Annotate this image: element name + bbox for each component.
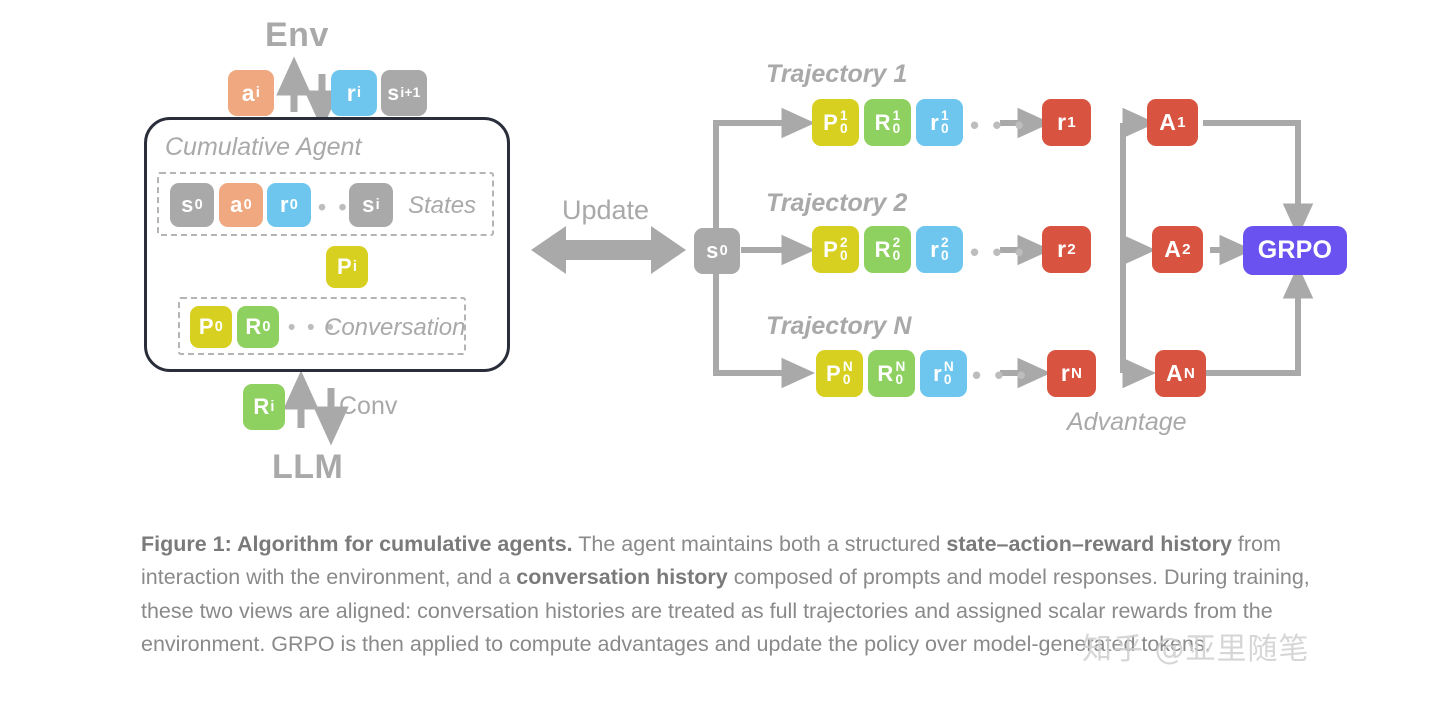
traj2-total-reward: r2 [1042,226,1091,273]
reward-to-advantage-arrows [1123,123,1141,373]
env-node-next-state: si+1 [381,70,427,116]
conversation-node-p0: P0 [190,306,232,348]
advantage-label: Advantage [1067,408,1187,437]
env-label: Env [265,16,329,55]
llm-label: LLM [272,448,343,487]
update-arrow [531,226,686,274]
env-node-reward: ri [331,70,377,116]
cumulative-agent-label: Cumulative Agent [165,133,361,162]
figure-diagram: Env ai ri si+1 Cumulative Agent s0 a0 r0… [0,0,1440,707]
root-state-node-s0: s0 [694,228,740,274]
traj1-node-prompt: P10 [812,99,859,146]
llm-exchange-arrows [301,388,331,428]
state-node-a0: a0 [219,183,263,227]
states-label: States [408,192,476,220]
conversation-node-r0: R0 [237,306,279,348]
traj2-node-reward-step: r20 [916,226,963,273]
caption-bold-3: conversation history [516,565,727,589]
traj1-ellipsis: • • • [970,112,1027,138]
state-node-s0: s0 [170,183,214,227]
grpo-node: GRPO [1243,226,1347,275]
traj2-node-prompt: P20 [812,226,859,273]
response-node-ri: Ri [243,384,285,430]
trajectory-title-2: Trajectory 2 [766,189,907,218]
traj2-ellipsis: • • • [970,239,1027,265]
state-node-si: si [349,183,393,227]
watermark: 知乎 @亚里随笔 [1082,624,1310,668]
trajectory-title-1: Trajectory 1 [766,60,907,89]
conv-label: Conv [339,392,397,421]
trajn-node-prompt: PN0 [816,350,863,397]
prompt-node-pi: Pi [326,246,368,288]
trajn-node-reward-step: rN0 [920,350,967,397]
trajn-advantage: AN [1155,350,1206,397]
caption-title: Figure 1: Algorithm for cumulative agent… [141,532,573,556]
traj1-total-reward: r1 [1042,99,1091,146]
traj1-advantage: A1 [1147,99,1198,146]
trajn-ellipsis: • • • [972,362,1029,388]
traj2-advantage: A2 [1152,226,1203,273]
conversation-label: Conversation [324,314,465,342]
state-node-r0: r0 [267,183,311,227]
update-label: Update [562,195,649,226]
trajn-node-response: RN0 [868,350,915,397]
traj1-node-reward-step: r10 [916,99,963,146]
caption-seg-2: The agent maintains both a structured [573,532,947,556]
env-node-action: ai [228,70,274,116]
caption-bold-2: state–action–reward history [946,532,1232,556]
traj1-node-response: R10 [864,99,911,146]
env-exchange-arrows [294,74,322,112]
traj2-node-response: R20 [864,226,911,273]
trajn-total-reward: rN [1047,350,1096,397]
trajectory-title-n: Trajectory N [766,312,911,341]
